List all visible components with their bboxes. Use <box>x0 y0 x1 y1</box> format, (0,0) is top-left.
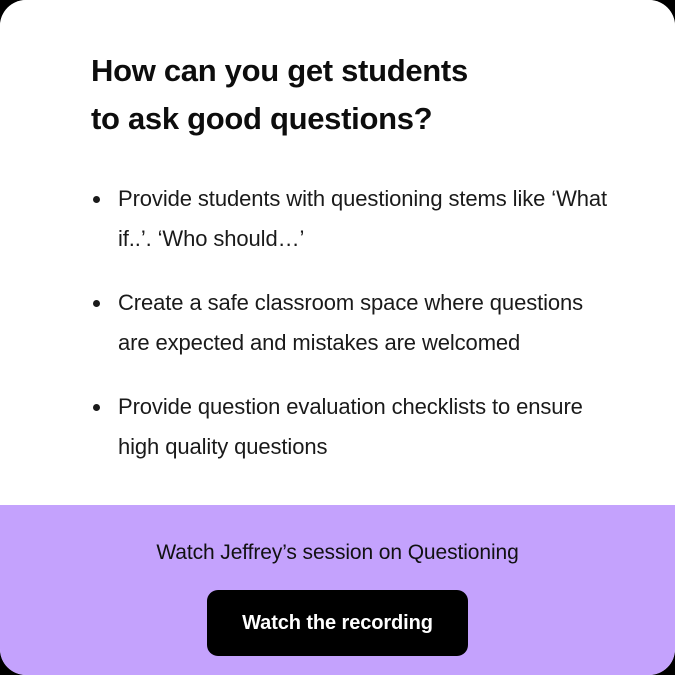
list-item-text: Create a safe classroom space where ques… <box>118 283 615 363</box>
bullet-dot-icon <box>93 404 100 411</box>
list-item-text: Provide question evaluation checklists t… <box>118 387 615 467</box>
list-item: Provide students with questioning stems … <box>91 179 615 259</box>
page-title-line-2: to ask good questions? <box>91 95 615 143</box>
card-content-area: How can you get students to ask good que… <box>0 0 675 505</box>
list-item: Provide question evaluation checklists t… <box>91 387 615 467</box>
bullet-dot-icon <box>93 196 100 203</box>
page-title-line-1: How can you get students <box>91 47 615 95</box>
list-item-text: Provide students with questioning stems … <box>118 179 615 259</box>
list-item: Create a safe classroom space where ques… <box>91 283 615 363</box>
tips-list: Provide students with questioning stems … <box>91 179 615 467</box>
cta-caption: Watch Jeffrey’s session on Questioning <box>156 539 518 567</box>
page-title: How can you get students to ask good que… <box>91 47 615 143</box>
promo-card: How can you get students to ask good que… <box>0 0 675 675</box>
watch-recording-button[interactable]: Watch the recording <box>207 590 468 656</box>
cta-footer: Watch Jeffrey’s session on Questioning W… <box>0 505 675 675</box>
bullet-dot-icon <box>93 300 100 307</box>
